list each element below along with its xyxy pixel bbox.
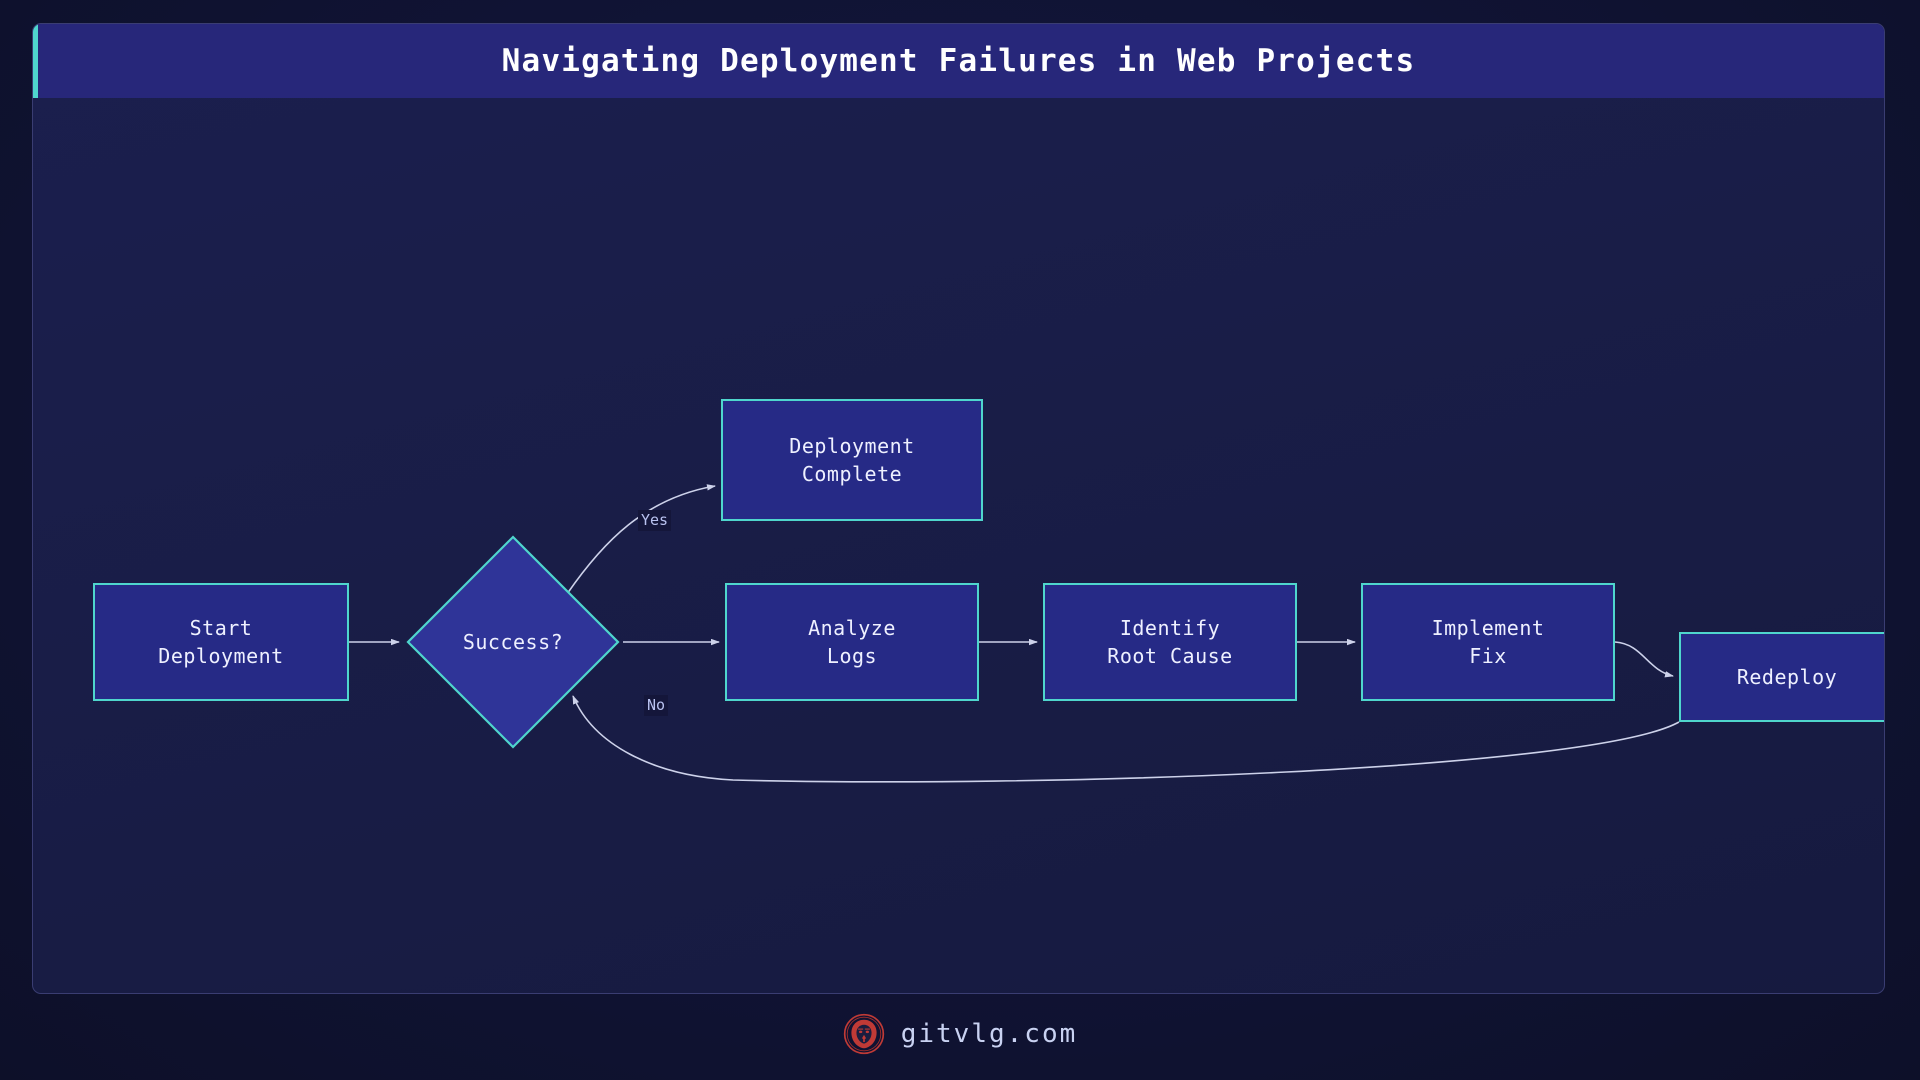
node-deployment-complete-line-2: Complete bbox=[802, 460, 902, 488]
node-redeploy-line-1: Redeploy bbox=[1737, 663, 1837, 691]
app-root: Navigating Deployment Failures in Web Pr… bbox=[0, 0, 1920, 1080]
node-start-deployment-line-2: Deployment bbox=[158, 642, 283, 670]
title-accent-bar bbox=[33, 24, 38, 98]
edge-fix-to-redeploy bbox=[1615, 642, 1673, 676]
node-implement-fix-line-1: Implement bbox=[1432, 614, 1545, 642]
node-implement-fix[interactable]: Implement Fix bbox=[1361, 583, 1615, 701]
node-implement-fix-line-2: Fix bbox=[1469, 642, 1507, 670]
node-deployment-complete-line-1: Deployment bbox=[789, 432, 914, 460]
node-analyze-logs-line-2: Logs bbox=[827, 642, 877, 670]
node-identify-root-cause[interactable]: Identify Root Cause bbox=[1043, 583, 1297, 701]
edge-redeploy-to-success bbox=[573, 696, 1679, 782]
node-redeploy[interactable]: Redeploy bbox=[1679, 632, 1885, 722]
node-analyze-logs[interactable]: Analyze Logs bbox=[725, 583, 979, 701]
page-title: Navigating Deployment Failures in Web Pr… bbox=[502, 43, 1416, 79]
diagram-panel: Navigating Deployment Failures in Web Pr… bbox=[32, 23, 1885, 994]
edge-label-no: No bbox=[644, 695, 668, 716]
node-success-decision-label: Success? bbox=[463, 630, 563, 654]
node-success-decision[interactable]: Success? bbox=[405, 534, 621, 750]
node-start-deployment-line-1: Start bbox=[190, 614, 253, 642]
lion-emblem-logo-icon bbox=[843, 1013, 885, 1055]
title-bar: Navigating Deployment Failures in Web Pr… bbox=[33, 24, 1884, 98]
edge-label-yes: Yes bbox=[638, 510, 671, 531]
node-analyze-logs-line-1: Analyze bbox=[808, 614, 896, 642]
node-deployment-complete[interactable]: Deployment Complete bbox=[721, 399, 983, 521]
node-start-deployment[interactable]: Start Deployment bbox=[93, 583, 349, 701]
node-identify-root-cause-line-2: Root Cause bbox=[1107, 642, 1232, 670]
node-identify-root-cause-line-1: Identify bbox=[1120, 614, 1220, 642]
footer-site-label: gitvlg.com bbox=[901, 1019, 1078, 1049]
flowchart-canvas: Yes No Start Deployment Success? Deploym… bbox=[33, 98, 1885, 994]
flowchart-edges bbox=[33, 98, 1885, 994]
footer: gitvlg.com bbox=[0, 1002, 1920, 1066]
